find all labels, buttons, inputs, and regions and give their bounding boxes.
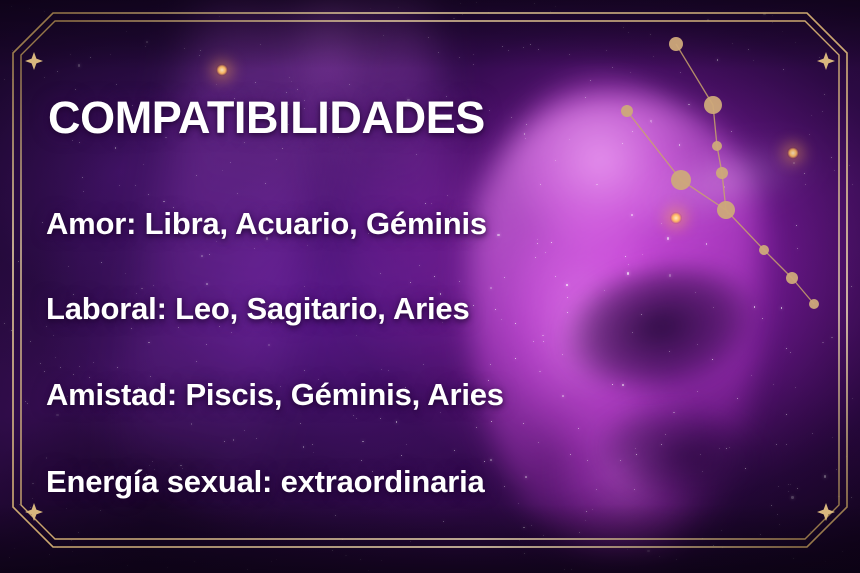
horoscope-compatibility-card: COMPATIBILIDADES Amor: Libra, Acuario, G… bbox=[0, 0, 860, 573]
text-content: COMPATIBILIDADES Amor: Libra, Acuario, G… bbox=[46, 0, 606, 573]
compat-line-energia: Energía sexual: extraordinaria bbox=[46, 464, 485, 500]
compat-line-amistad: Amistad: Piscis, Géminis, Aries bbox=[46, 377, 504, 413]
compat-line-amor: Amor: Libra, Acuario, Géminis bbox=[46, 206, 487, 242]
page-title: COMPATIBILIDADES bbox=[48, 92, 485, 144]
compat-line-laboral: Laboral: Leo, Sagitario, Aries bbox=[46, 291, 470, 327]
